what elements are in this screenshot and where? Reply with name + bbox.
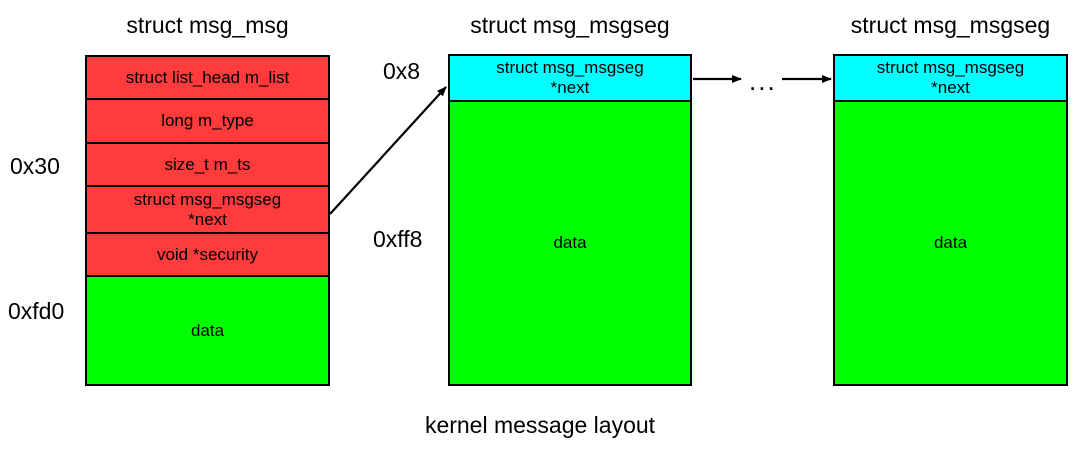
field-row-seg1-next: struct msg_msgseg *next [450,56,690,102]
field-label-segn-next-line2: *next [931,78,970,98]
field-label-next-line1: struct msg_msgseg [134,190,281,210]
struct-title-msg-msgseg-1: struct msg_msgseg [448,12,692,39]
field-row-m-ts: size_t m_ts [87,144,328,187]
ellipsis-between-segments: ... [749,68,777,94]
field-label-m-list: struct list_head m_list [126,68,289,88]
offset-label-0x8: 0x8 [383,58,420,85]
field-label-segn-next-line1: struct msg_msgseg [877,58,1024,78]
field-label-security: void *security [157,245,258,265]
field-label-seg1-next-line1: struct msg_msgseg [496,58,643,78]
struct-title-msg-msgseg-n: struct msg_msgseg [833,12,1068,39]
field-label-m-type: long m_type [161,111,254,131]
field-row-segn-data: data [835,102,1066,384]
arrow-next-to-seg1 [330,87,446,214]
struct-title-msg-msg: struct msg_msg [85,12,330,39]
field-row-data-msg-msg: data [87,277,328,384]
offset-label-0xfd0: 0xfd0 [8,298,64,325]
field-label-next-line2: *next [188,210,227,230]
field-row-next-pointer: struct msg_msgseg *next [87,187,328,234]
field-label-seg1-next-line2: *next [551,78,590,98]
struct-box-msg-msgseg-n: struct msg_msgseg *next data [833,54,1068,386]
offset-label-0xff8: 0xff8 [373,226,422,253]
offset-label-0x30: 0x30 [10,153,60,180]
struct-box-msg-msgseg-1: struct msg_msgseg *next data [448,54,692,386]
field-row-m-type: long m_type [87,100,328,144]
field-row-security: void *security [87,234,328,277]
field-label-segn-data: data [934,233,967,253]
struct-box-msg-msg: struct list_head m_list long m_type size… [85,55,330,386]
field-row-m-list: struct list_head m_list [87,57,328,100]
field-label-m-ts: size_t m_ts [165,155,251,175]
field-row-segn-next: struct msg_msgseg *next [835,56,1066,102]
diagram-canvas: struct msg_msg 0x30 0xfd0 struct list_he… [0,0,1080,453]
field-label-seg1-data: data [553,233,586,253]
field-label-data: data [191,321,224,341]
diagram-caption: kernel message layout [340,412,740,439]
field-row-seg1-data: data [450,102,690,384]
